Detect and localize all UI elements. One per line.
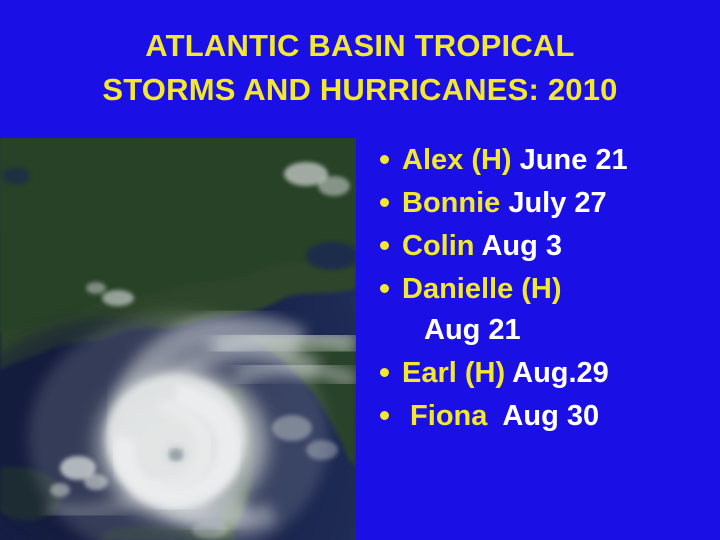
satellite-photo-graphic — [0, 138, 356, 540]
bullet-dot-icon — [380, 284, 389, 293]
storm-name: Danielle (H) — [402, 273, 562, 305]
storm-name: Earl (H) — [402, 357, 505, 389]
list-item[interactable]: Danielle (H) Aug 21 — [372, 269, 716, 351]
page-title: ATLANTIC BASIN TROPICAL STORMS AND HURRI… — [0, 24, 720, 112]
bullet-dot-icon — [380, 198, 389, 207]
list-item[interactable]: Colin Aug 3 — [372, 226, 716, 267]
list-item[interactable]: Earl (H) Aug.29 — [372, 353, 716, 394]
list-item[interactable]: Alex (H) June 21 — [372, 140, 716, 181]
storm-name: Fiona — [402, 400, 487, 432]
bullet-dot-icon — [380, 241, 389, 250]
storm-date: June 21 — [512, 144, 628, 176]
storm-list: Alex (H) June 21 Bonnie July 27 Colin Au… — [372, 140, 716, 439]
storm-name: Colin — [402, 230, 475, 262]
storm-name: Bonnie — [402, 187, 500, 219]
storm-date: Aug.29 — [505, 357, 609, 389]
bullet-dot-icon — [380, 368, 389, 377]
storm-date-wrapped: Aug 21 — [402, 310, 716, 351]
title-line-2: STORMS AND HURRICANES: 2010 — [0, 68, 720, 112]
storm-name: Alex (H) — [402, 144, 512, 176]
presentation-slide: ATLANTIC BASIN TROPICAL STORMS AND HURRI… — [0, 0, 720, 540]
hurricane-satellite-image — [0, 138, 356, 540]
storm-date: Aug 30 — [487, 400, 599, 432]
title-line-1: ATLANTIC BASIN TROPICAL — [0, 24, 720, 68]
list-item[interactable]: Bonnie July 27 — [372, 183, 716, 224]
bullet-dot-icon — [380, 155, 389, 164]
list-item[interactable]: Fiona Aug 30 — [372, 396, 716, 437]
storm-date: July 27 — [500, 187, 606, 219]
bullet-dot-icon — [380, 411, 389, 420]
storm-date: Aug 3 — [475, 230, 563, 262]
